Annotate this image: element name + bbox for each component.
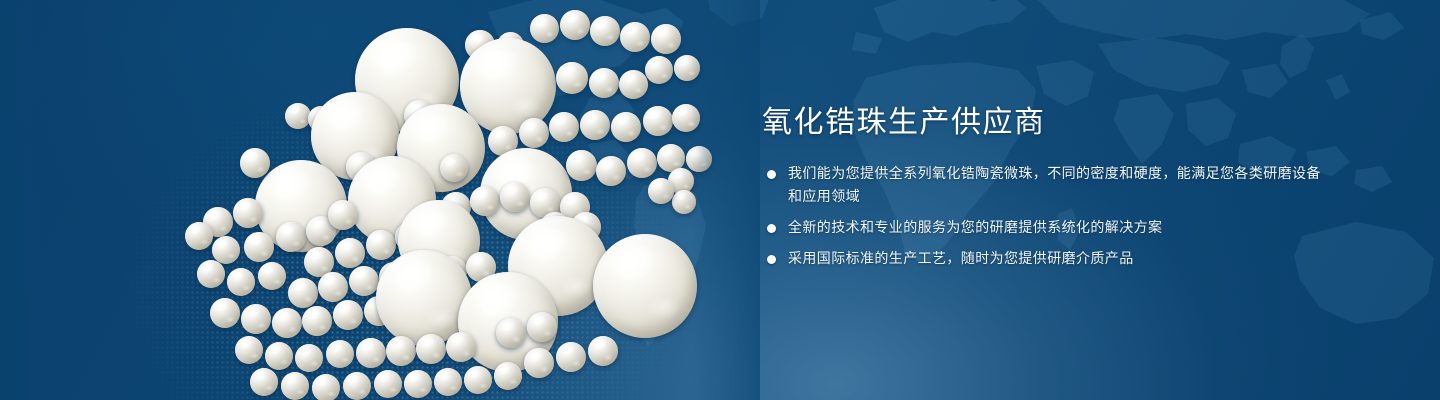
ceramic-bead	[672, 104, 700, 132]
ceramic-bead	[643, 106, 673, 136]
ceramic-bead	[560, 10, 590, 40]
ceramic-bead	[227, 268, 255, 296]
hero-banner: 氧化锆珠生产供应商 我们能为您提供全系列氧化锆陶瓷微珠，不同的密度和硬度，能满足…	[0, 0, 1440, 400]
ceramic-bead	[295, 344, 323, 372]
ceramic-bead	[258, 262, 286, 290]
feature-bullet-text: 我们能为您提供全系列氧化锆陶瓷微珠，不同的密度和硬度，能满足您各类研磨设备和应用…	[788, 165, 1321, 204]
ceramic-bead	[404, 370, 432, 398]
ceramic-bead	[620, 22, 650, 52]
feature-bullet-item: 采用国际标准的生产工艺，随时为您提供研磨介质产品	[762, 247, 1322, 270]
ceramic-bead	[672, 190, 696, 214]
zirconia-beads-photo	[0, 0, 760, 400]
ceramic-bead	[281, 372, 309, 400]
ceramic-bead	[326, 340, 354, 368]
ceramic-bead	[333, 300, 363, 330]
ceramic-bead	[288, 278, 318, 308]
ceramic-bead	[686, 146, 712, 172]
ceramic-bead	[593, 234, 697, 338]
ceramic-bead	[312, 374, 340, 400]
ceramic-bead	[244, 232, 274, 262]
ceramic-bead	[588, 336, 618, 366]
ceramic-bead	[349, 266, 379, 296]
ceramic-bead	[386, 336, 416, 366]
page-title: 氧化锆珠生产供应商	[762, 104, 1322, 142]
ceramic-bead	[596, 156, 626, 186]
ceramic-bead	[328, 200, 358, 230]
ceramic-bead	[197, 260, 225, 288]
ceramic-bead	[527, 312, 557, 342]
bullet-dot-icon	[767, 224, 776, 233]
ceramic-bead	[265, 342, 293, 370]
bullet-dot-icon	[767, 170, 776, 179]
ceramic-bead	[302, 306, 332, 336]
ceramic-bead	[566, 150, 597, 181]
ceramic-bead	[645, 56, 673, 84]
ceramic-bead	[530, 14, 559, 43]
ceramic-bead	[210, 298, 240, 328]
ceramic-bead	[611, 112, 641, 142]
ceramic-bead	[496, 318, 526, 348]
bullet-dot-icon	[767, 255, 776, 264]
ceramic-bead	[619, 70, 648, 99]
ceramic-bead	[589, 68, 619, 98]
feature-bullet-item: 我们能为您提供全系列氧化锆陶瓷微珠，不同的密度和硬度，能满足您各类研磨设备和应用…	[762, 162, 1322, 208]
ceramic-bead	[272, 308, 302, 338]
ceramic-bead	[524, 348, 554, 378]
ceramic-bead	[440, 154, 468, 182]
ceramic-bead	[318, 272, 348, 302]
ceramic-bead	[250, 368, 278, 396]
ceramic-bead	[674, 55, 700, 81]
ceramic-bead	[464, 366, 492, 394]
feature-bullet-item: 全新的技术和专业的服务为您的研磨提供系统化的解决方案	[762, 216, 1322, 239]
ceramic-bead	[185, 222, 213, 250]
ceramic-bead	[580, 110, 610, 140]
ceramic-bead	[416, 334, 446, 364]
ceramic-bead	[648, 178, 674, 204]
ceramic-bead	[235, 336, 263, 364]
ceramic-bead	[434, 368, 462, 396]
ceramic-bead	[590, 16, 620, 46]
ceramic-bead	[446, 332, 476, 362]
ceramic-bead	[627, 148, 657, 178]
ceramic-bead	[240, 148, 270, 178]
ceramic-bead	[556, 342, 586, 372]
ceramic-bead	[366, 230, 396, 260]
feature-bullet-text: 全新的技术和专业的服务为您的研磨提供系统化的解决方案	[788, 219, 1162, 235]
ceramic-bead	[285, 103, 311, 129]
ceramic-bead	[470, 186, 500, 216]
ceramic-bead	[241, 304, 271, 334]
ceramic-bead	[500, 182, 530, 212]
ceramic-bead	[276, 222, 306, 252]
ceramic-bead	[494, 362, 522, 390]
ceramic-bead	[549, 112, 579, 142]
ceramic-bead	[556, 62, 588, 94]
ceramic-bead	[651, 24, 681, 54]
ceramic-bead	[374, 370, 402, 398]
ceramic-bead	[212, 236, 240, 264]
feature-bullet-text: 采用国际标准的生产工艺，随时为您提供研磨介质产品	[788, 250, 1134, 266]
ceramic-bead	[356, 338, 386, 368]
ceramic-bead	[335, 238, 365, 268]
ceramic-bead	[343, 372, 371, 400]
ceramic-bead	[519, 118, 549, 148]
ceramic-bead	[233, 198, 263, 228]
feature-bullet-list: 我们能为您提供全系列氧化锆陶瓷微珠，不同的密度和硬度，能满足您各类研磨设备和应用…	[762, 162, 1322, 270]
banner-copy: 氧化锆珠生产供应商 我们能为您提供全系列氧化锆陶瓷微珠，不同的密度和硬度，能满足…	[762, 104, 1322, 270]
